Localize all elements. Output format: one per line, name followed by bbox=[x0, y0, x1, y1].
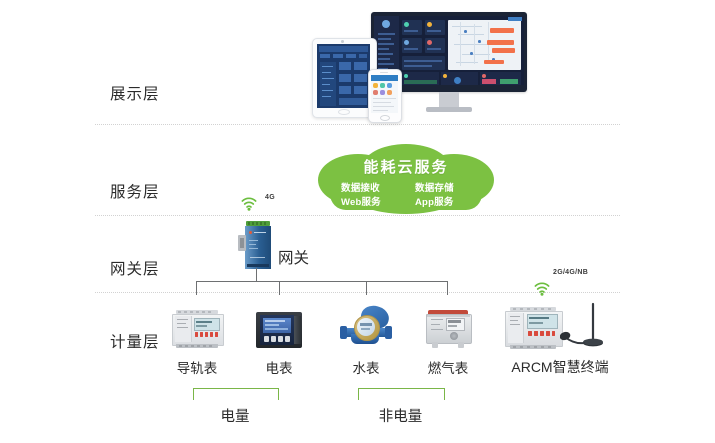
group-label-non-electric: 非电量 bbox=[358, 405, 443, 426]
wire-drop-din-rail-meter bbox=[196, 281, 197, 295]
wire-drop-water-meter bbox=[366, 281, 367, 295]
cloud-item-data-storage: 数据存储 bbox=[415, 180, 454, 194]
gateway-label: 网关 bbox=[278, 246, 309, 268]
cloud-item-app-service: App服务 bbox=[415, 194, 453, 208]
layer-label-gateway: 网关层 bbox=[110, 257, 160, 279]
terminal-uplink-label: 2G/4G/NB bbox=[553, 269, 588, 276]
terminal-label: ARCM智慧终端 bbox=[500, 357, 620, 377]
cloud-shape bbox=[308, 142, 504, 216]
meter-label-power: 电表 bbox=[257, 357, 301, 377]
layer-divider-presentation-service bbox=[95, 124, 620, 126]
panel-power-meter-icon bbox=[256, 312, 302, 348]
wire-drop-gas-meter bbox=[447, 281, 448, 295]
layer-label-presentation: 展示层 bbox=[110, 82, 160, 104]
wire-metering-bus bbox=[196, 281, 448, 282]
antenna-icon bbox=[560, 300, 606, 350]
gateway-uplink-label: 4G bbox=[265, 194, 275, 201]
wire-gateway-to-bus bbox=[256, 268, 257, 281]
bracket-electric bbox=[193, 388, 279, 400]
meter-label-din-rail: 导轨表 bbox=[171, 357, 223, 377]
gas-meter-icon bbox=[424, 310, 472, 348]
gateway-device-icon bbox=[238, 221, 278, 269]
wifi-signal-icon bbox=[240, 196, 258, 211]
meter-label-water: 水表 bbox=[344, 357, 388, 377]
cloud-item-data-receive: 数据接收 bbox=[341, 180, 380, 194]
wire-drop-power-meter bbox=[279, 281, 280, 295]
cloud-title: 能耗云服务 bbox=[308, 156, 504, 177]
cloud-item-web-service: Web服务 bbox=[341, 194, 381, 208]
wifi-signal-icon-terminal bbox=[533, 281, 551, 296]
tablet-device-icon bbox=[312, 38, 375, 116]
water-meter-icon bbox=[340, 306, 392, 348]
architecture-diagram: 展示层 服务层 网关层 计量层 bbox=[0, 0, 715, 443]
bracket-non-electric bbox=[358, 388, 445, 400]
meter-label-gas: 燃气表 bbox=[424, 357, 472, 377]
layer-label-metering: 计量层 bbox=[110, 330, 160, 352]
energy-cloud-service-node: 能耗云服务 数据接收 Web服务 数据存储 App服务 bbox=[308, 142, 504, 216]
din-rail-meter-icon bbox=[172, 310, 222, 348]
smartphone-device-icon bbox=[368, 69, 400, 121]
group-label-electric: 电量 bbox=[193, 405, 277, 426]
arcm-terminal-icon bbox=[505, 307, 561, 349]
presentation-device-group bbox=[312, 12, 527, 120]
layer-label-service: 服务层 bbox=[110, 180, 160, 202]
